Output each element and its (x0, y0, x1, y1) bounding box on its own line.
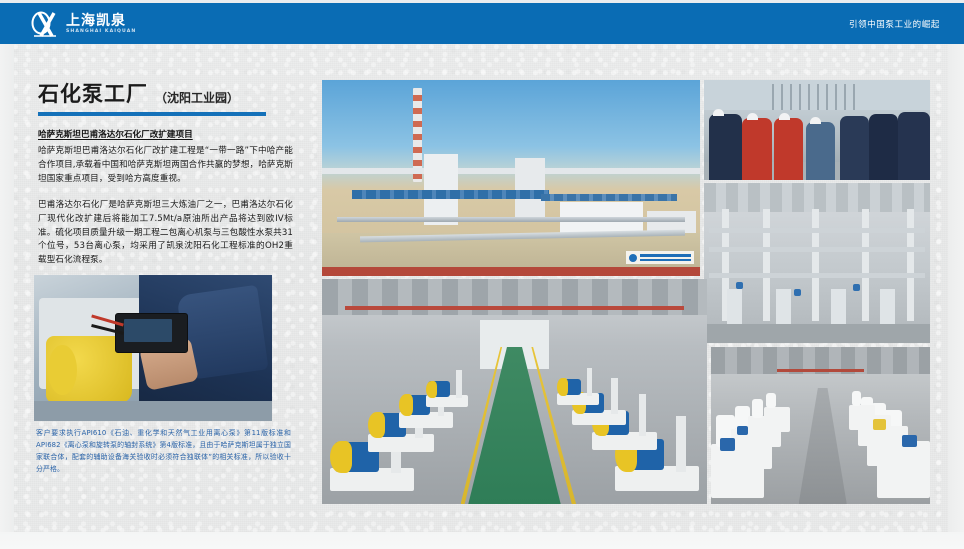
pump-unit-left-4 (426, 371, 468, 407)
photo-pipes (704, 183, 930, 343)
pump-unit-right-4 (557, 369, 599, 405)
photo-watermark (626, 251, 694, 264)
pump-cap (557, 378, 568, 395)
paragraph-2: 巴甫洛达尔石化厂是哈萨克斯坦三大炼油厂之一，巴甫洛达尔石化厂现代化改扩建后将能加… (38, 199, 293, 269)
right-edge-gradient (948, 44, 964, 532)
blue-roof-row-shape (352, 190, 549, 199)
kaiquan-emblem-icon (30, 11, 60, 38)
pump-column (456, 370, 461, 398)
horizontal-pipe-1-shape (709, 228, 926, 233)
pump-cap (368, 412, 385, 438)
person-suit-3 (869, 114, 898, 180)
overhead-crane-shape (345, 306, 684, 310)
pump-column (639, 394, 647, 436)
horizontal-pipe-3-shape (709, 273, 926, 278)
blue-part-right-1 (902, 435, 917, 448)
yellow-part-right-1 (873, 419, 886, 430)
valve-2-shape (794, 289, 801, 296)
text-column: 石化泵工厂 （沈阳工业园） 哈萨克斯坦巴甫洛达尔石化厂改扩建项目 哈萨克斯坦巴甫… (38, 84, 293, 268)
brand-text: 上海凯泉 SHANGHAI KAIQUAN (66, 14, 136, 35)
column-3-shape (812, 209, 819, 321)
project-headline: 哈萨克斯坦巴甫洛达尔石化厂改扩建项目 (38, 129, 293, 142)
title-underline-rule (38, 112, 266, 116)
helmet-icon-3 (779, 113, 790, 120)
photo-white-pumps-art (711, 347, 930, 504)
photo-delegation-art (704, 80, 930, 180)
watermark-logo-icon (629, 254, 637, 262)
page-title: 石化泵工厂 （沈阳工业园） (38, 84, 293, 105)
column-2-shape (763, 209, 770, 321)
photo-white-pumps (711, 347, 930, 504)
white-pump-left-4 (764, 407, 790, 432)
horizontal-pipe-2-shape (709, 247, 926, 252)
header-bar: 上海凯泉 SHANGHAI KAIQUAN 引领中国泵工业的崛起 (0, 3, 964, 44)
photo-grid (322, 80, 930, 504)
person-worker-3 (806, 122, 835, 180)
photo-technician-art (34, 275, 272, 421)
photo-technician (34, 275, 272, 421)
red-deck-shape (322, 267, 700, 276)
person-suit-2 (840, 116, 869, 180)
header-slogan: 引领中国泵工业的崛起 (849, 3, 940, 44)
helmet-icon-4 (810, 117, 821, 124)
device-screen-shape (124, 319, 172, 342)
photo-refinery-art (322, 80, 700, 276)
pump-column (587, 368, 592, 396)
valve-3-shape (853, 284, 860, 291)
overhead-beam-shape (322, 168, 700, 174)
bottom-edge-strip (0, 532, 964, 549)
photo-assembly-hall-art (322, 279, 707, 504)
blue-part-left-2 (737, 426, 748, 435)
pump-column (676, 416, 686, 472)
photo-assembly-hall (322, 279, 707, 504)
photo-delegation (704, 80, 930, 180)
valve-1-shape (736, 282, 743, 289)
blue-part-left-1 (720, 438, 735, 451)
page-title-main: 石化泵工厂 (38, 84, 148, 105)
warehouse-crane-rail-shape (777, 369, 865, 372)
brand-logo[interactable]: 上海凯泉 SHANGHAI KAIQUAN (30, 10, 136, 38)
white-pump-right-4 (849, 405, 875, 430)
floor-shape (34, 401, 272, 421)
photo-pipes-art (704, 183, 930, 343)
helmet-icon-1 (713, 109, 724, 116)
person-worker-2 (774, 118, 803, 180)
pump-cap (426, 381, 437, 398)
photo-caption: 客户要求执行API610《石油、重化学和天然气工业用离心泵》第11版标准和API… (36, 428, 291, 476)
pump-cap (399, 394, 413, 416)
hall-roof-shape (704, 183, 930, 212)
left-edge-gradient (0, 44, 14, 532)
paragraph-1: 哈萨克斯坦巴甫洛达尔石化厂改扩建工程是“一带一路”下中哈产能合作项目,承载着中国… (38, 145, 293, 187)
pump-cap (330, 441, 352, 473)
person-suit-4 (898, 112, 930, 180)
brand-name-en: SHANGHAI KAIQUAN (66, 30, 136, 35)
blue-roof-row-2-shape (541, 194, 677, 201)
brand-name-cn: 上海凯泉 (66, 14, 136, 28)
helmet-icon-2 (747, 113, 758, 120)
warehouse-aisle-shape (799, 388, 847, 504)
column-5-shape (907, 209, 914, 321)
person-suit-1 (709, 114, 743, 180)
yellow-motor-face-shape (48, 345, 77, 395)
person-worker-1 (742, 118, 771, 180)
column-4-shape (862, 209, 869, 321)
pipe-rack-shape (337, 217, 685, 222)
watermark-text-shape (640, 254, 691, 261)
background-rig-shape (772, 84, 862, 110)
page-title-sub: （沈阳工业园） (155, 92, 239, 105)
pump-column (611, 378, 617, 413)
photo-refinery (322, 80, 700, 276)
presentation-slide: 上海凯泉 SHANGHAI KAIQUAN 引领中国泵工业的崛起 石化泵工厂 （… (0, 0, 964, 549)
hall-floor-shape (704, 324, 930, 343)
